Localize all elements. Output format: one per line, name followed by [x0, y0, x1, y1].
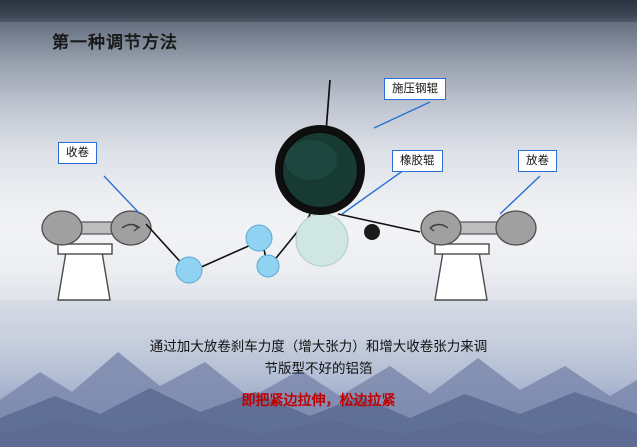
top-dark-band: [0, 0, 637, 22]
page-title: 第一种调节方法: [52, 28, 178, 53]
callout-press-steel-roll-label: 施压钢辊: [392, 81, 438, 95]
left-stand: [58, 244, 112, 300]
background-art: [0, 0, 637, 447]
callout-rubber-roll-label: 橡胶辊: [400, 153, 435, 167]
right-stand: [435, 244, 489, 300]
caption-emphasis: 即把紧边拉伸，松边拉紧: [0, 390, 637, 410]
callout-rubber-roll[interactable]: 橡胶辊: [392, 150, 443, 172]
machine-diagram: [0, 0, 637, 447]
callout-winder[interactable]: 收卷: [58, 142, 97, 164]
callout-winder-label: 收卷: [66, 145, 89, 159]
callout-unwinder-label: 放卷: [526, 153, 549, 167]
callout-press-steel-roll[interactable]: 施压钢辊: [384, 78, 446, 100]
slide-canvas: 第一种调节方法: [0, 0, 637, 447]
caption-line-2: 节版型不好的铝箔: [0, 360, 637, 380]
callout-unwinder[interactable]: 放卷: [518, 150, 557, 172]
caption-line-1: 通过加大放卷刹车力度（增大张力）和增大收卷张力来调: [0, 338, 637, 358]
